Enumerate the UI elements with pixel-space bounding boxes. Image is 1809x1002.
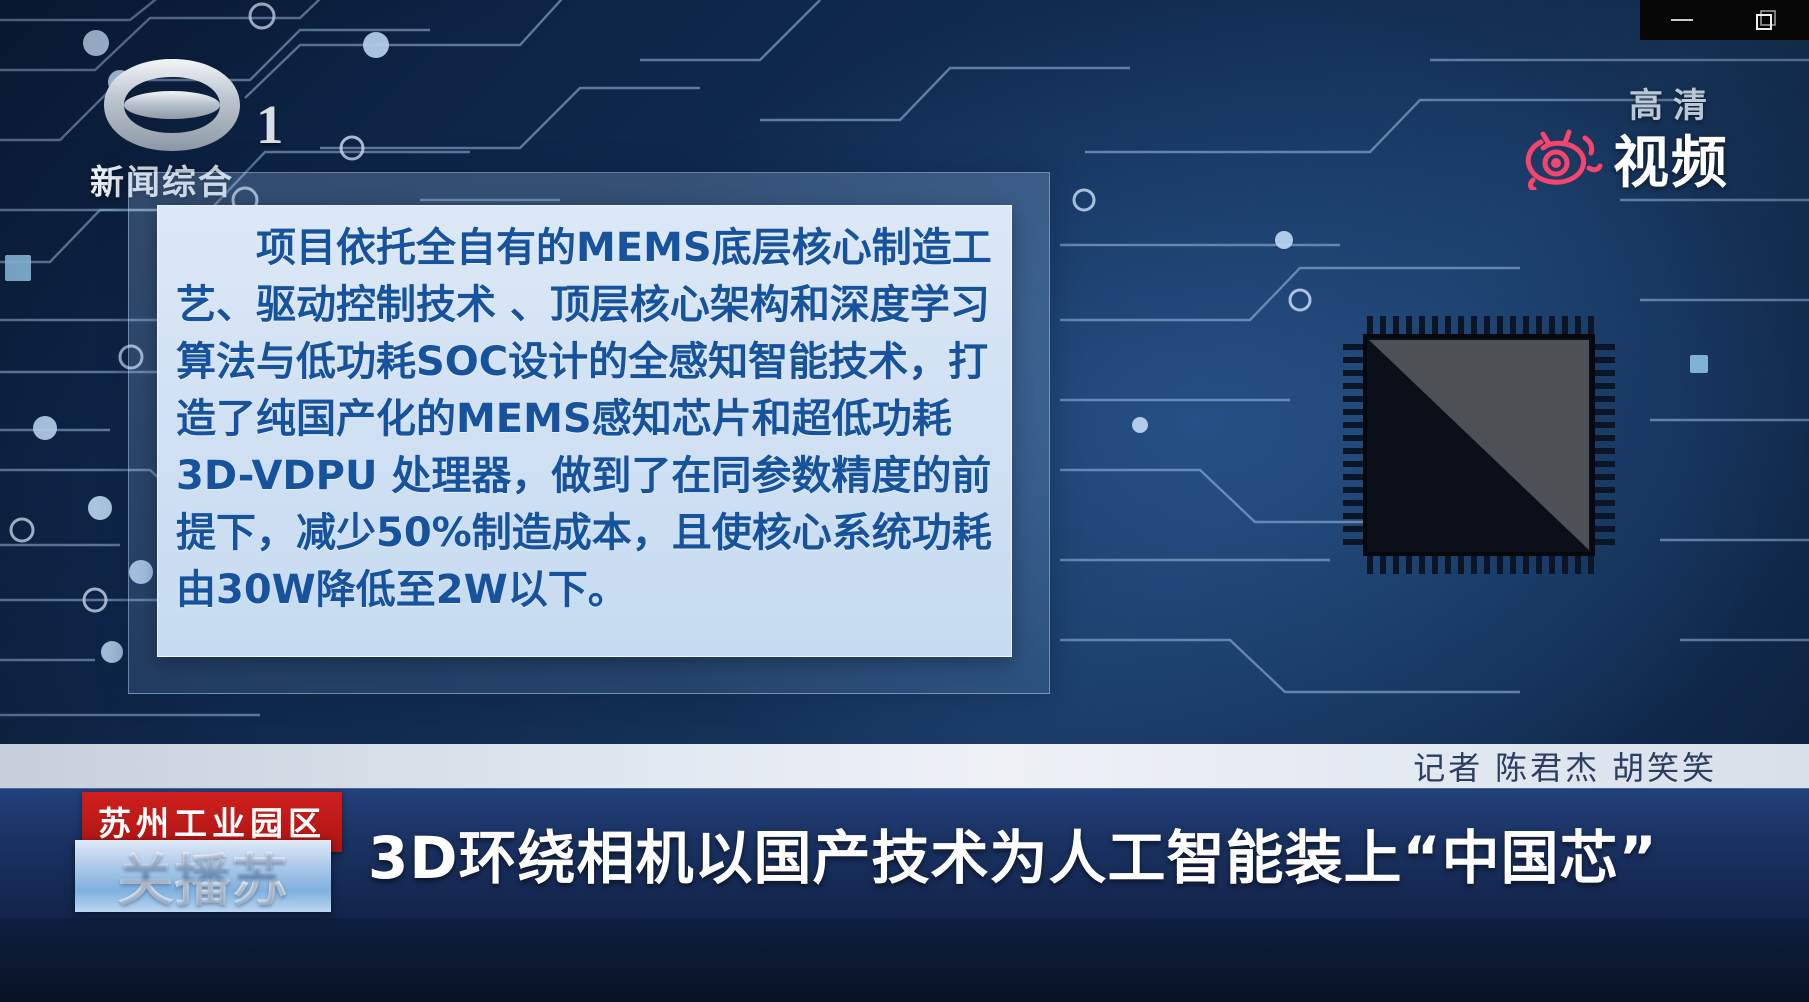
cctv-eye-logo-icon [100,55,245,160]
weibo-eye-icon [1521,128,1603,190]
channel-number: 1 [256,93,284,156]
credit-container: 记者 陈君杰 胡笑笑 [0,744,1809,788]
reporter-credit: 记者 陈君杰 胡笑笑 [1413,743,1717,789]
minimize-icon [1669,13,1695,27]
panel-body-text: 项目依托全自有的MEMS底层核心制造工艺、驱动控制技术 、顶层核心架构和深度学习… [176,220,993,619]
qfp-chip-icon [1339,310,1619,580]
weibo-video-logo: 视频 [1521,118,1729,199]
minimize-button[interactable] [1659,5,1705,35]
weibo-video-label: 视频 [1613,118,1729,199]
channel-logo: 1 新闻综合 [78,55,308,190]
info-text-panel: 项目依托全自有的MEMS底层核心制造工艺、驱动控制技术 、顶层核心架构和深度学习… [157,205,1012,657]
program-logo: 关播苏 [75,840,331,912]
window-controls [1640,0,1809,40]
headline-text: 3D环绕相机以国产技术为人工智能装上“中国芯” [368,788,1768,918]
restore-button[interactable] [1744,5,1790,35]
program-logo-label: 关播苏 [75,840,331,912]
broadcast-screen: 1 新闻综合 高清 视频 [0,0,1809,1002]
restore-icon [1754,7,1780,33]
banner-bottom-strip [0,918,1809,1002]
